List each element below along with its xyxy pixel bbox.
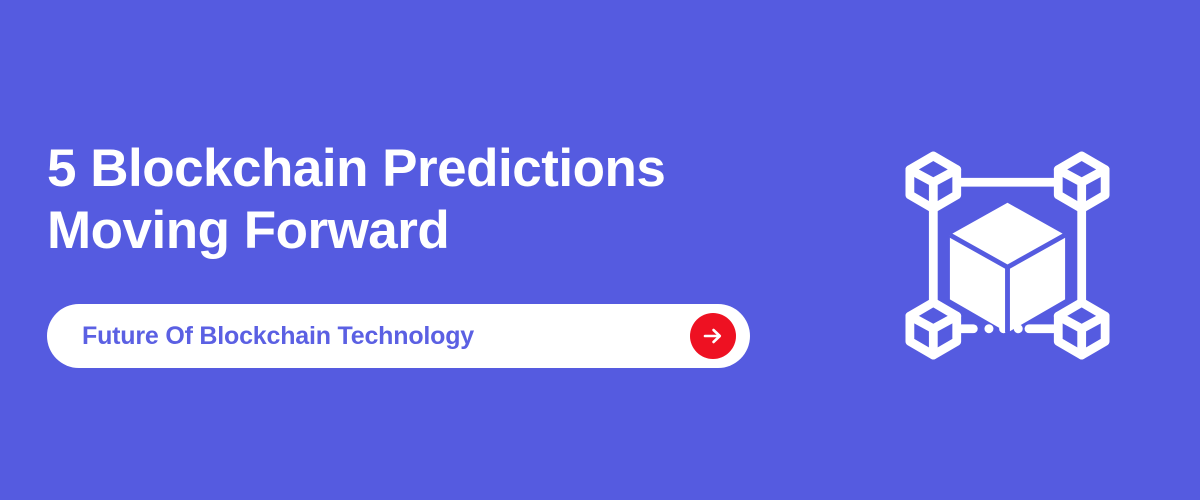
blockchain-network-icon	[905, 148, 1110, 363]
cta-arrow-button[interactable]	[690, 313, 736, 359]
headline-block: 5 Blockchain Predictions Moving Forward	[47, 138, 807, 262]
blockchain-banner: 5 Blockchain Predictions Moving Forward …	[0, 0, 1200, 500]
page-title: 5 Blockchain Predictions Moving Forward	[47, 138, 807, 262]
cta-label: Future Of Blockchain Technology	[82, 322, 474, 351]
arrow-right-icon	[700, 323, 726, 349]
cta-pill[interactable]: Future Of Blockchain Technology	[47, 304, 750, 368]
